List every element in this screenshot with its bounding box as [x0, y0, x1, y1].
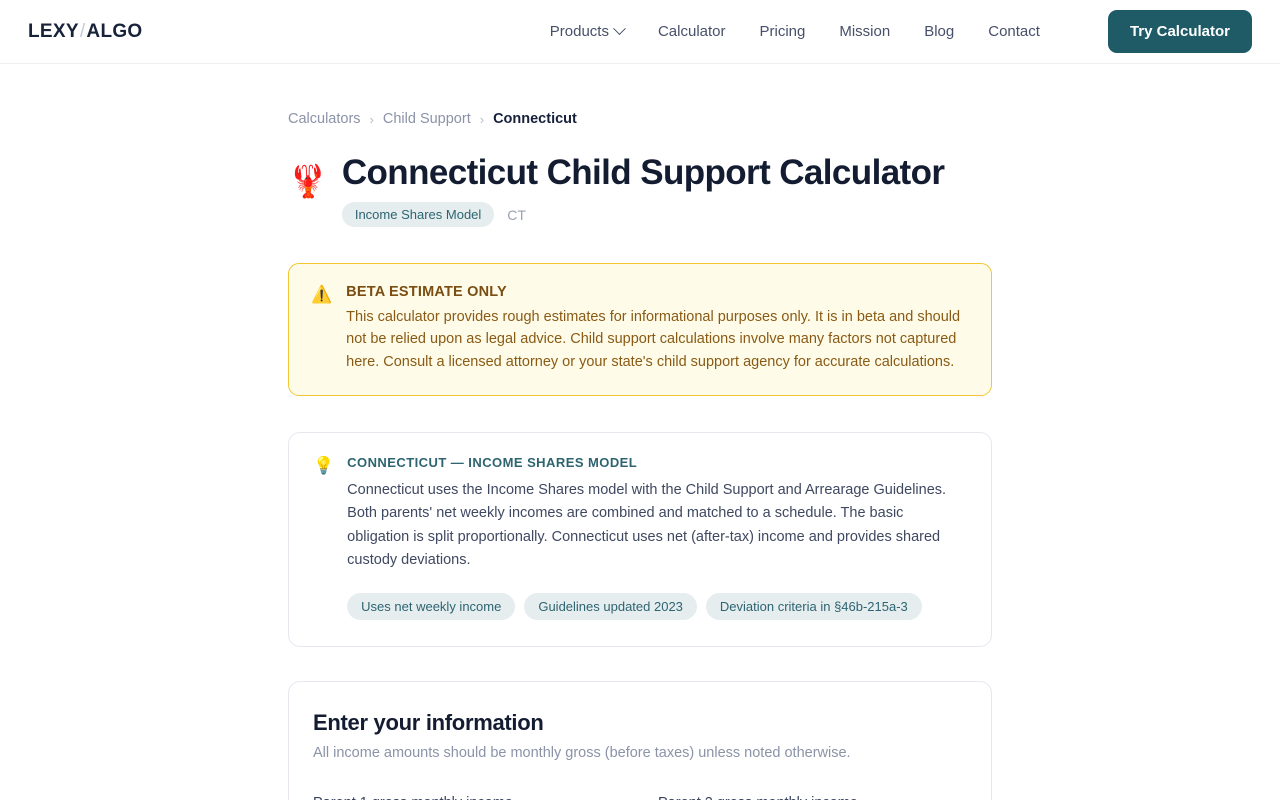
nav-item-mission[interactable]: Mission: [839, 23, 890, 40]
brand-slash: /: [80, 21, 86, 42]
brand-primary: LEXY: [28, 21, 79, 42]
info-card-heading: CONNECTICUT — INCOME SHARES MODEL: [347, 455, 967, 470]
breadcrumb-current-connecticut: Connecticut: [493, 111, 577, 127]
nav-item-blog[interactable]: Blog: [924, 23, 954, 40]
try-calculator-button[interactable]: Try Calculator: [1108, 10, 1252, 53]
parent2-income-label: Parent 2 gross monthly income: [658, 795, 967, 800]
info-chip-net-weekly-income: Uses net weekly income: [347, 593, 515, 620]
title-block: Connecticut Child Support Calculator Inc…: [342, 153, 992, 227]
field-group-parent2-income: Parent 2 gross monthly income: [658, 795, 967, 800]
nav-item-products[interactable]: Products: [550, 23, 624, 40]
breadcrumb-item-calculators[interactable]: Calculators: [288, 111, 361, 127]
page-title-row: 🦞 Connecticut Child Support Calculator I…: [288, 153, 992, 227]
breadcrumb-separator: ›: [480, 112, 484, 127]
state-abbreviation: CT: [507, 207, 526, 223]
info-card-chip-row: Uses net weekly income Guidelines update…: [347, 593, 967, 620]
input-form-card: Enter your information All income amount…: [288, 681, 992, 800]
field-group-parent1-income: Parent 1 gross monthly income: [313, 795, 622, 800]
nav-item-pricing[interactable]: Pricing: [760, 23, 806, 40]
lightbulb-icon: 💡: [313, 455, 334, 620]
form-title: Enter your information: [313, 710, 967, 736]
info-chip-deviation-criteria: Deviation criteria in §46b-215a-3: [706, 593, 922, 620]
brand-secondary: ALGO: [86, 21, 142, 42]
nav-item-calculator[interactable]: Calculator: [658, 23, 726, 40]
site-header: LEXY/ALGO Products Calculator Pricing Mi…: [0, 0, 1280, 64]
lobster-emoji: 🦞: [288, 153, 328, 197]
breadcrumb-item-child-support[interactable]: Child Support: [383, 111, 471, 127]
main-navigation: Products Calculator Pricing Mission Blog…: [550, 10, 1252, 53]
info-card-body: CONNECTICUT — INCOME SHARES MODEL Connec…: [347, 455, 967, 620]
beta-notice-banner: ⚠️ BETA ESTIMATE ONLY This calculator pr…: [288, 263, 992, 396]
nav-item-contact[interactable]: Contact: [988, 23, 1040, 40]
info-chip-guidelines-updated: Guidelines updated 2023: [524, 593, 697, 620]
form-field-grid: Parent 1 gross monthly income Parent 2 g…: [313, 795, 967, 800]
breadcrumb: Calculators › Child Support › Connecticu…: [288, 64, 992, 127]
beta-notice-body: BETA ESTIMATE ONLY This calculator provi…: [346, 284, 969, 373]
form-subtitle: All income amounts should be monthly gro…: [313, 745, 967, 761]
brand-logo[interactable]: LEXY/ALGO: [28, 21, 143, 43]
parent1-income-label: Parent 1 gross monthly income: [313, 795, 622, 800]
state-model-info-card: 💡 CONNECTICUT — INCOME SHARES MODEL Conn…: [288, 432, 992, 647]
beta-notice-text: This calculator provides rough estimates…: [346, 306, 969, 373]
breadcrumb-separator: ›: [370, 112, 374, 127]
info-card-text: Connecticut uses the Income Shares model…: [347, 479, 967, 573]
nav-item-products-label: Products: [550, 23, 609, 40]
model-badge: Income Shares Model: [342, 202, 494, 227]
page-content: Calculators › Child Support › Connecticu…: [0, 64, 1280, 800]
warning-triangle-icon: ⚠️: [311, 284, 332, 373]
title-meta-row: Income Shares Model CT: [342, 202, 992, 227]
beta-notice-title: BETA ESTIMATE ONLY: [346, 284, 969, 300]
page-title: Connecticut Child Support Calculator: [342, 153, 992, 192]
chevron-down-icon: [613, 22, 626, 35]
